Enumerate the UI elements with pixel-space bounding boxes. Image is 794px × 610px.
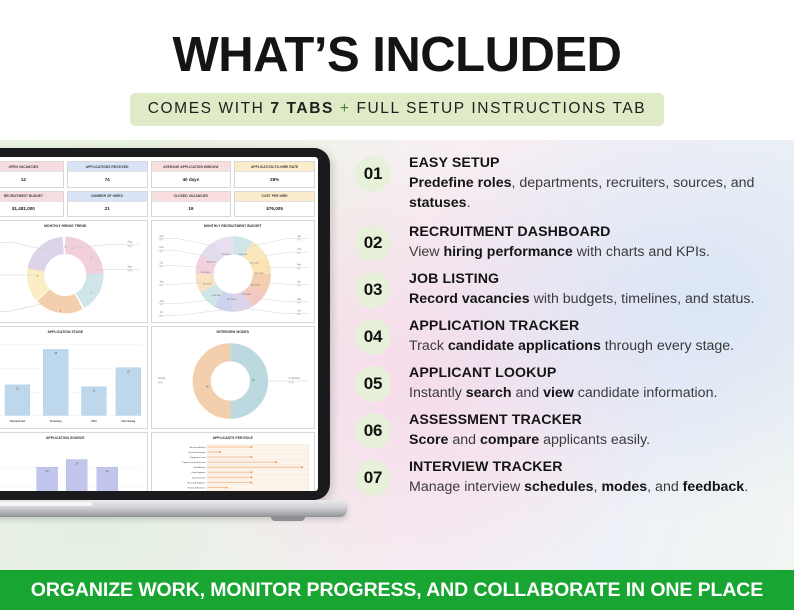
- svg-text:8%: 8%: [297, 269, 300, 271]
- kpi-value: 28%: [235, 171, 314, 187]
- kpi-row-2: RECRUITMENT BUDGET $1,481,000 NUMBER OF …: [0, 191, 315, 218]
- kpi-card[interactable]: OPEN VACANCIES 12: [0, 161, 64, 188]
- svg-text:20: 20: [106, 469, 109, 473]
- chart-title: INTERVIEW MODES: [152, 327, 315, 335]
- chart-row-stage-modes: APPLICATION STAGE: [0, 326, 315, 429]
- hbar-applicants-per-role-svg: Account Analyst Content Strategist Copyw…: [152, 441, 315, 491]
- kpi-label: AVERAGE APPLICATION WINDOW: [152, 162, 231, 171]
- feature-description: View hiring performance with charts and …: [409, 243, 710, 263]
- badge-tab-count: 7 TABS: [270, 100, 334, 117]
- kpi-label: APPLICATIONS RECEIVED: [68, 162, 147, 171]
- svg-text:12: 12: [92, 389, 95, 393]
- donut-recruitment-budget-svg: Dec8% Nov8% Oct8% Sep8% Aug8% Jul8% Jan8…: [152, 229, 315, 321]
- chart-canvas: Mar17% Nov15% Jan16% Aug20% Sep19% 6: [0, 229, 147, 321]
- chart-monthly-hiring-trend[interactable]: MONTHLY HIRING TREND: [0, 220, 148, 323]
- chart-monthly-recruitment-budget[interactable]: MONTHLY RECRUITMENT BUDGET: [151, 220, 316, 323]
- feature-item-06[interactable]: 06 ASSESSMENT TRACKER Score and compare …: [355, 411, 780, 451]
- kpi-label: NUMBER OF HIRES: [68, 192, 147, 201]
- feature-body: EASY SETUP Predefine roles, departments,…: [409, 154, 780, 214]
- laptop-lip: [0, 502, 92, 506]
- svg-text:Backend Engineer: Backend Engineer: [187, 482, 205, 485]
- feature-title: EASY SETUP: [409, 154, 780, 173]
- kpi-row-1: OPEN VACANCIES 12 APPLICATIONS RECEIVED …: [0, 161, 315, 188]
- svg-text:8%: 8%: [159, 251, 162, 253]
- svg-text:$119,000: $119,000: [254, 273, 263, 275]
- chart-title: MONTHLY RECRUITMENT BUDGET: [152, 221, 315, 229]
- kpi-label: OPEN VACANCIES: [0, 162, 63, 171]
- svg-text:8%: 8%: [297, 286, 300, 288]
- svg-text:13: 13: [16, 387, 19, 391]
- chart-title: APPLICATION SOURCE: [0, 433, 147, 441]
- chart-row-source-roles: APPLICATION SOURCE: [0, 432, 315, 491]
- kpi-card[interactable]: COST PER HIRE $76,005: [234, 191, 315, 218]
- kpi-value: 19: [152, 201, 231, 217]
- kpi-label: CLOSED VACANCIES: [152, 192, 231, 201]
- feature-description: Record vacancies with budgets, timelines…: [409, 290, 754, 310]
- svg-text:19%: 19%: [127, 269, 133, 273]
- feature-body: JOB LISTING Record vacancies with budget…: [409, 270, 754, 310]
- feature-item-07[interactable]: 07 INTERVIEW TRACKER Manage interview sc…: [355, 458, 780, 498]
- kpi-value: 21: [68, 201, 147, 217]
- svg-text:Jan: Jan: [297, 236, 301, 238]
- feature-title: JOB LISTING: [409, 270, 754, 289]
- kpi-label: COST PER HIRE: [235, 192, 314, 201]
- svg-text:20: 20: [127, 370, 130, 374]
- feature-item-03[interactable]: 03 JOB LISTING Record vacancies with bud…: [355, 270, 780, 310]
- chart-applicants-per-role[interactable]: APPLICANTS PER ROLE: [151, 432, 316, 491]
- svg-text:$117,000: $117,000: [249, 263, 258, 265]
- svg-text:46%: 46%: [157, 381, 163, 385]
- feature-title: ASSESSMENT TRACKER: [409, 411, 650, 430]
- svg-text:Apr: Apr: [297, 281, 301, 284]
- svg-text:Screening: Screening: [50, 420, 62, 423]
- kpi-card[interactable]: NUMBER OF HIRES 21: [67, 191, 148, 218]
- chart-title: APPLICATION STAGE: [0, 327, 147, 335]
- svg-text:Sep: Sep: [127, 265, 132, 269]
- kpi-card[interactable]: CLOSED VACANCIES 19: [151, 191, 232, 218]
- poster-root: WHAT’S INCLUDED COMES WITH 7 TABS + FULL…: [0, 0, 794, 610]
- svg-text:Feb: Feb: [297, 250, 302, 252]
- feature-number-badge: 01: [355, 156, 391, 192]
- kpi-card[interactable]: APPLICATION-TO-HIRE RATE 28%: [234, 161, 315, 188]
- svg-text:Sep: Sep: [159, 282, 164, 284]
- feature-description: Manage interview schedules, modes, and f…: [409, 478, 748, 498]
- chart-canvas: 302010 202620: [0, 441, 147, 491]
- feature-title: INTERVIEW TRACKER: [409, 458, 748, 477]
- laptop-screen-bezel: OPEN VACANCIES 12 APPLICATIONS RECEIVED …: [0, 148, 330, 500]
- chart-interview-modes[interactable]: INTERVIEW MODES: [151, 326, 316, 429]
- svg-text:28: 28: [54, 352, 57, 356]
- feature-number-badge: 02: [355, 225, 391, 261]
- svg-text:Dec: Dec: [159, 236, 164, 238]
- svg-text:Aug: Aug: [159, 300, 164, 303]
- feature-description: Instantly search and view candidate info…: [409, 384, 717, 404]
- svg-text:Oct: Oct: [159, 262, 163, 265]
- svg-text:$121,000: $121,000: [238, 254, 248, 256]
- svg-text:8%: 8%: [159, 316, 162, 318]
- svg-text:$122,000: $122,000: [242, 294, 252, 296]
- svg-text:Copywriter Lead: Copywriter Lead: [189, 456, 206, 459]
- chart-title: MONTHLY HIRING TREND: [0, 221, 147, 229]
- svg-text:Frontend Architect: Frontend Architect: [187, 487, 205, 490]
- svg-text:$124,000: $124,000: [211, 295, 221, 297]
- svg-text:8%: 8%: [297, 253, 300, 255]
- feature-item-02[interactable]: 02 RECRUITMENT DASHBOARD View hiring per…: [355, 223, 780, 263]
- svg-text:In-Person: In-Person: [288, 376, 300, 380]
- bar-application-source-svg: 302010 202620: [0, 441, 147, 491]
- svg-text:Jul: Jul: [159, 313, 162, 315]
- page-title: WHAT’S INCLUDED: [0, 30, 794, 81]
- content-area: OPEN VACANCIES 12 APPLICATIONS RECEIVED …: [0, 140, 794, 570]
- kpi-value: 40 days: [152, 171, 231, 187]
- svg-text:Content Strategist: Content Strategist: [188, 451, 206, 454]
- svg-text:$119,000: $119,000: [201, 272, 210, 274]
- svg-text:Technical test: Technical test: [10, 420, 26, 423]
- feature-body: RECRUITMENT DASHBOARD View hiring perfor…: [409, 223, 710, 263]
- feature-description: Score and compare applicants easily.: [409, 431, 650, 451]
- laptop-screen-content: OPEN VACANCIES 12 APPLICATIONS RECEIVED …: [0, 157, 318, 491]
- feature-body: APPLICATION TRACKER Track candidate appl…: [409, 317, 734, 357]
- feature-description: Predefine roles, departments, recruiters…: [409, 174, 780, 214]
- svg-text:Data Scientist: Data Scientist: [192, 477, 206, 480]
- svg-text:46: 46: [205, 385, 208, 389]
- chart-application-stage[interactable]: APPLICATION STAGE: [0, 326, 148, 429]
- badge-plus: +: [334, 100, 356, 117]
- kpi-card[interactable]: APPLICATIONS RECEIVED 74: [67, 161, 148, 188]
- tabs-badge: COMES WITH 7 TABS + FULL SETUP INSTRUCTI…: [130, 93, 665, 126]
- feature-number-badge: 05: [355, 366, 391, 402]
- svg-text:Aug: Aug: [127, 240, 132, 244]
- chart-canvas: Dec8% Nov8% Oct8% Sep8% Aug8% Jul8% Jan8…: [152, 229, 315, 321]
- svg-text:$118,000: $118,000: [222, 254, 231, 256]
- chart-application-source[interactable]: APPLICATION SOURCE: [0, 432, 148, 491]
- svg-text:Account Analyst: Account Analyst: [189, 446, 205, 449]
- feature-item-04[interactable]: 04 APPLICATION TRACKER Track candidate a…: [355, 317, 780, 357]
- svg-text:Data Analyst: Data Analyst: [193, 467, 206, 470]
- svg-text:Jun: Jun: [297, 311, 301, 313]
- badge-prefix: COMES WITH: [148, 100, 271, 117]
- svg-text:$121,000: $121,000: [226, 299, 236, 301]
- kpi-value: 74: [68, 171, 147, 187]
- svg-text:$123,000: $123,000: [203, 284, 213, 286]
- feature-list: 01 EASY SETUP Predefine roles, departmen…: [355, 154, 780, 504]
- subtitle-row: COMES WITH 7 TABS + FULL SETUP INSTRUCTI…: [0, 93, 794, 126]
- kpi-label: RECRUITMENT BUDGET: [0, 192, 63, 201]
- svg-text:Offer: Offer: [91, 420, 97, 423]
- laptop-foot-notch: [271, 516, 305, 521]
- feature-number-badge: 04: [355, 319, 391, 355]
- feature-description: Track candidate applications through eve…: [409, 337, 734, 357]
- svg-text:8%: 8%: [297, 240, 300, 242]
- svg-text:8%: 8%: [297, 315, 300, 317]
- svg-text:Nov: Nov: [159, 248, 164, 250]
- laptop-base: [0, 500, 347, 517]
- kpi-label: APPLICATION-TO-HIRE RATE: [235, 162, 314, 171]
- svg-text:54%: 54%: [288, 381, 294, 385]
- svg-text:May: May: [297, 299, 302, 301]
- svg-text:20: 20: [46, 469, 49, 473]
- svg-text:8%: 8%: [159, 286, 162, 288]
- footer-banner: ORGANIZE WORK, MONITOR PROGRESS, AND COL…: [0, 570, 794, 610]
- feature-number-badge: 03: [355, 272, 391, 308]
- svg-text:$120,000: $120,000: [250, 285, 260, 287]
- svg-text:26: 26: [75, 462, 78, 466]
- feature-title: RECRUITMENT DASHBOARD: [409, 223, 710, 242]
- feature-item-05[interactable]: 05 APPLICANT LOOKUP Instantly search and…: [355, 364, 780, 404]
- laptop-mockup: OPEN VACANCIES 12 APPLICATIONS RECEIVED …: [0, 148, 330, 517]
- chart-canvas: Account Analyst Content Strategist Copyw…: [152, 441, 315, 491]
- feature-body: ASSESSMENT TRACKER Score and compare app…: [409, 411, 650, 451]
- feature-item-01[interactable]: 01 EASY SETUP Predefine roles, departmen…: [355, 154, 780, 214]
- svg-text:Data Engineer: Data Engineer: [191, 472, 205, 475]
- recruitment-dashboard: OPEN VACANCIES 12 APPLICATIONS RECEIVED …: [0, 157, 318, 491]
- chart-row-donuts: MONTHLY HIRING TREND: [0, 220, 315, 323]
- chart-title: APPLICANTS PER ROLE: [152, 433, 315, 441]
- feature-title: APPLICATION TRACKER: [409, 317, 734, 336]
- svg-text:$118,000: $118,000: [206, 262, 215, 264]
- svg-text:20%: 20%: [127, 244, 133, 248]
- svg-text:54: 54: [251, 378, 254, 382]
- svg-text:Interviewing: Interviewing: [121, 420, 135, 423]
- svg-text:8%: 8%: [159, 267, 162, 269]
- footer-text: ORGANIZE WORK, MONITOR PROGRESS, AND COL…: [31, 579, 763, 602]
- kpi-value: $76,005: [235, 201, 314, 217]
- svg-text:Cybersecurity Specialist: Cybersecurity Specialist: [182, 461, 206, 464]
- donut-interview-modes-svg: In-Person54% Virtual46% 4654: [152, 335, 315, 427]
- feature-body: INTERVIEW TRACKER Manage interview sched…: [409, 458, 748, 498]
- feature-number-badge: 06: [355, 413, 391, 449]
- feature-body: APPLICANT LOOKUP Instantly search and vi…: [409, 364, 717, 404]
- kpi-value: 12: [0, 171, 63, 187]
- svg-text:Mar: Mar: [297, 264, 301, 267]
- chart-canvas: In-Person54% Virtual46% 4654: [152, 335, 315, 427]
- feature-number-badge: 07: [355, 460, 391, 496]
- svg-text:8%: 8%: [297, 303, 300, 305]
- svg-text:8%: 8%: [159, 240, 162, 242]
- svg-text:8%: 8%: [159, 305, 162, 307]
- kpi-card[interactable]: RECRUITMENT BUDGET $1,481,000: [0, 191, 64, 218]
- kpi-value: $1,481,000: [0, 201, 63, 217]
- kpi-card[interactable]: AVERAGE APPLICATION WINDOW 40 days: [151, 161, 232, 188]
- donut-hiring-trend-svg: Mar17% Nov15% Jan16% Aug20% Sep19% 6: [0, 229, 147, 321]
- header: WHAT’S INCLUDED COMES WITH 7 TABS + FULL…: [0, 0, 794, 140]
- svg-text:Virtual: Virtual: [157, 376, 165, 380]
- chart-canvas: 3020 100 1328: [0, 335, 147, 427]
- bar-application-stage-svg: 3020 100 1328: [0, 335, 147, 427]
- feature-title: APPLICANT LOOKUP: [409, 364, 717, 383]
- badge-suffix: FULL SETUP INSTRUCTIONS TAB: [356, 100, 646, 117]
